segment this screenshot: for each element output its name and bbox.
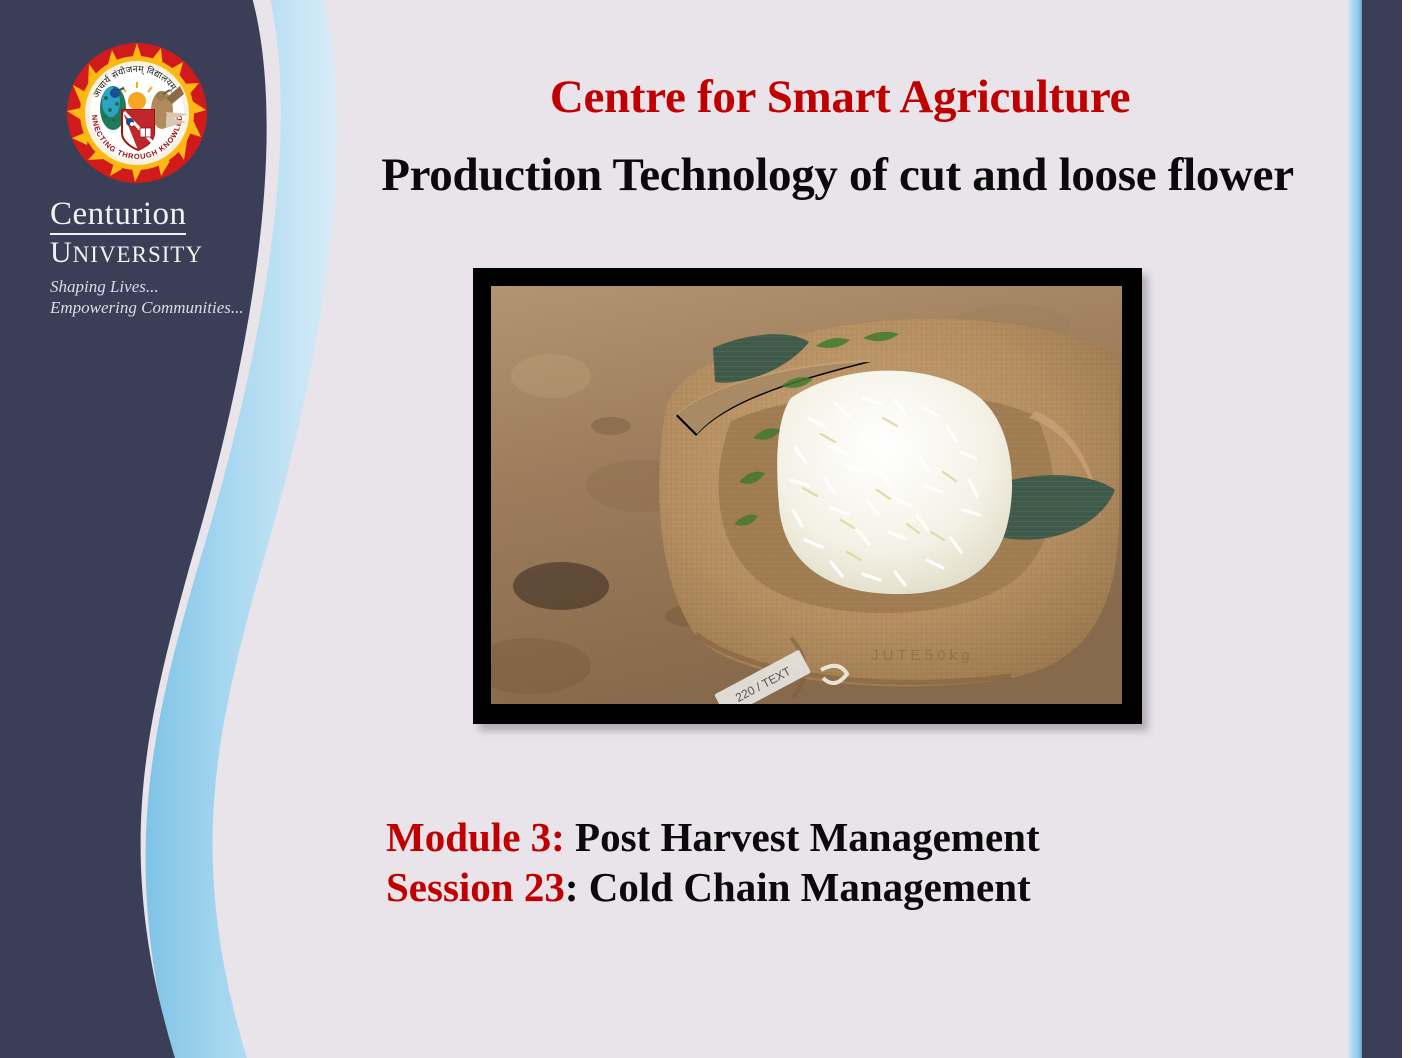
module-line: Module 3: Post Harvest Management (386, 812, 1206, 862)
module-title: Post Harvest Management (575, 814, 1040, 860)
brand-university-initial: U (50, 236, 73, 269)
brand-name-university: UNIVERSITY (50, 237, 265, 269)
course-title: Production Technology of cut and loose f… (330, 148, 1345, 202)
tagline-line-2: Empowering Communities... (50, 297, 265, 318)
session-line: Session 23: Cold Chain Management (386, 862, 1206, 912)
right-edge-navy-band (1362, 0, 1402, 1058)
photo-frame: 220 / TEXT J U T E 5 0 k g (473, 268, 1142, 724)
brand-university-rest: NIVERSITY (73, 242, 203, 267)
session-separator: : (565, 864, 579, 910)
tagline-line-1: Shaping Lives... (50, 276, 265, 297)
module-label: Module 3: (386, 814, 565, 860)
loose-flowers-in-jute-sack-photo: 220 / TEXT J U T E 5 0 k g (491, 286, 1122, 704)
photo-illustration: 220 / TEXT J U T E 5 0 k g (491, 286, 1122, 704)
centurion-university-emblem-icon: आचार्य संयोजनम् विद्यालयम् च CONNECTING … (62, 38, 212, 188)
right-edge-white-strip (1402, 0, 1411, 1058)
session-title: Cold Chain Management (589, 864, 1031, 910)
right-edge-blue-band (1348, 0, 1362, 1058)
module-session-block: Module 3: Post Harvest Management Sessio… (386, 812, 1206, 912)
centre-title: Centre for Smart Agriculture (340, 70, 1340, 124)
brand-name-centurion: Centurion (50, 198, 186, 235)
presentation-slide: आचार्य संयोजनम् विद्यालयम् च CONNECTING … (0, 0, 1411, 1058)
branding-block: आचार्य संयोजनम् विद्यालयम् च CONNECTING … (50, 38, 265, 318)
svg-text:J U T E 5 0 k g: J U T E 5 0 k g (871, 647, 970, 664)
session-label: Session 23 (386, 864, 565, 910)
brand-tagline: Shaping Lives... Empowering Communities.… (50, 276, 265, 319)
